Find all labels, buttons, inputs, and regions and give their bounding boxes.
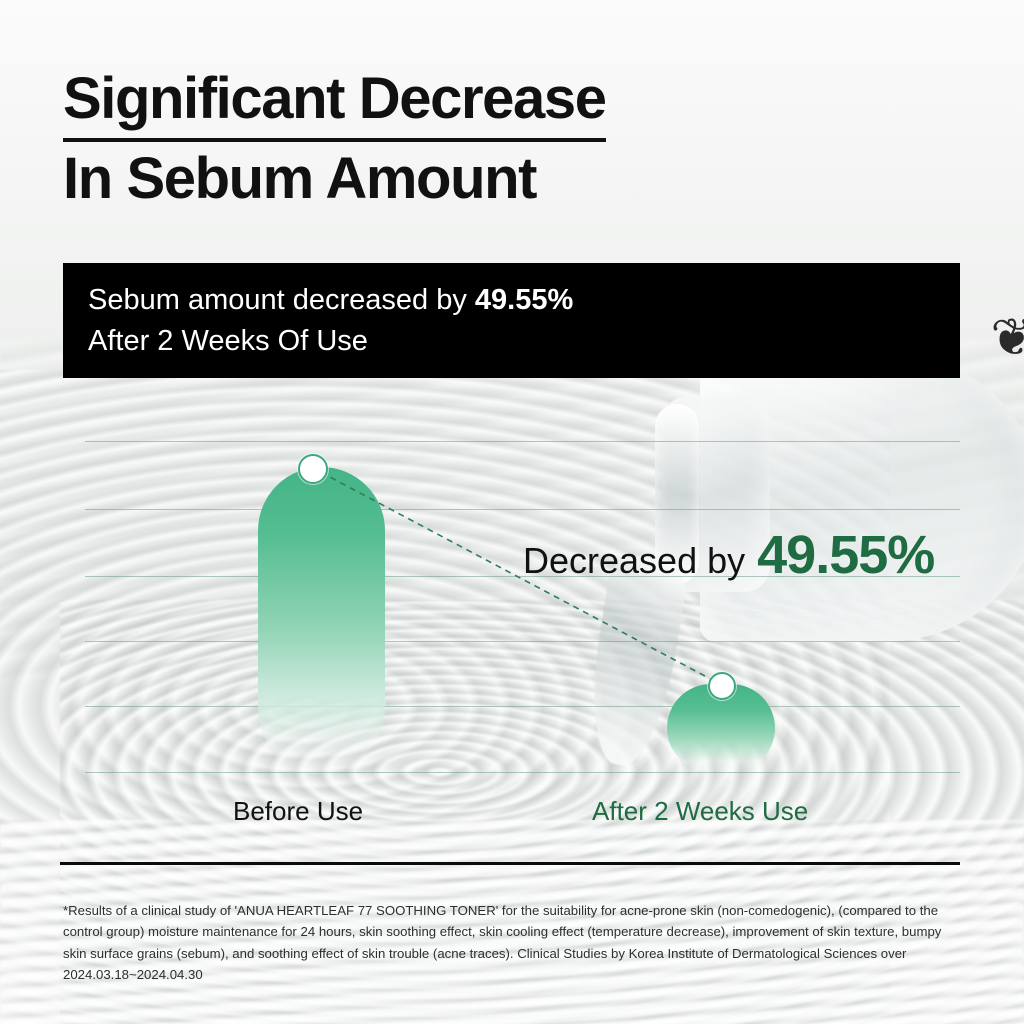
bar-before-use (258, 467, 385, 772)
category-label-after-2-weeks: After 2 Weeks Use (592, 796, 808, 827)
decrease-annotation-value: 49.55% (757, 524, 934, 586)
sebum-bar-chart: Before Use After 2 Weeks Use (0, 400, 1024, 850)
category-label-before-use: Before Use (233, 796, 363, 827)
decrease-annotation: Decreased by 49.55% (523, 524, 934, 586)
page-title: Significant Decrease In Sebum Amount (63, 62, 783, 216)
banner-line-1-value: 49.55% (475, 284, 573, 316)
trend-connector-line (0, 400, 1024, 850)
bar-before-use-fill (258, 467, 385, 772)
result-banner: Sebum amount decreased by 49.55% After 2… (63, 263, 960, 378)
decorative-corner-glyph: ❦ (990, 308, 1024, 368)
gridline-6 (85, 772, 960, 773)
gridline-4 (85, 641, 960, 642)
headline-line-1-wrap: Significant Decrease (63, 62, 783, 142)
decrease-annotation-prefix: Decreased by (523, 540, 745, 582)
footnote-text: *Results of a clinical study of 'ANUA HE… (63, 900, 963, 986)
marker-before-use (298, 454, 328, 484)
gridline-1 (85, 441, 960, 442)
banner-line-1-prefix: Sebum amount decreased by (88, 284, 475, 316)
banner-line-2: After 2 Weeks Of Use (88, 325, 368, 358)
gridline-5 (85, 706, 960, 707)
marker-after-2-weeks (708, 672, 736, 700)
banner-line-1: Sebum amount decreased by 49.55% (88, 284, 573, 317)
headline-line-2: In Sebum Amount (63, 142, 783, 216)
footer-divider (60, 862, 960, 865)
gridline-2 (85, 509, 960, 510)
headline-line-1: Significant Decrease (63, 62, 606, 142)
